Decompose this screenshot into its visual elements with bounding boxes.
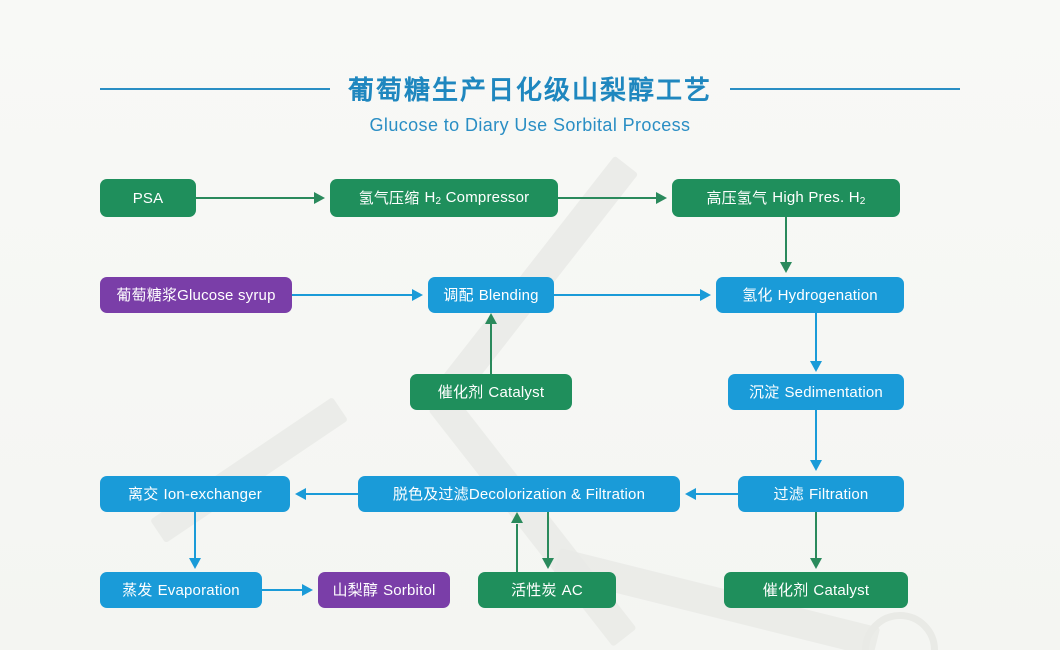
flow-highpres-to-hydrogenation-arrowhead xyxy=(780,262,792,273)
node-high-pres-h2-label-en: High Pres. H2 xyxy=(772,190,865,207)
title-row: 葡萄糖生产日化级山梨醇工艺 xyxy=(0,70,1060,107)
node-glucose-syrup-label-cn: 葡萄糖浆 xyxy=(116,288,177,303)
flow-psa-to-compressor xyxy=(196,197,316,199)
node-catalyst-top[interactable]: 催化剂Catalyst xyxy=(410,374,572,410)
node-filtration-label-cn: 过滤 xyxy=(774,487,804,502)
node-blending[interactable]: 调配Blending xyxy=(428,277,554,313)
node-filtration-label-en: Filtration xyxy=(809,487,869,502)
flow-ion-exchanger-to-evaporation xyxy=(194,512,196,560)
node-hydrogenation-label-en: Hydrogenation xyxy=(778,288,878,303)
node-ion-exchanger-label-cn: 离交 xyxy=(128,487,158,502)
flow-ac-to-decolorization xyxy=(516,524,518,572)
node-high-pres-h2-label-cn: 高压氢气 xyxy=(706,191,767,206)
flow-ac-to-decolorization-arrowhead xyxy=(511,512,523,523)
flow-ion-exchanger-to-evaporation-arrowhead xyxy=(189,558,201,569)
watermark-stroke xyxy=(428,392,636,647)
flow-sedimentation-to-filtration xyxy=(815,410,817,462)
node-catalyst-bottom-label-en: Catalyst xyxy=(813,583,869,598)
node-ion-exchanger-label-en: Ion-exchanger xyxy=(163,487,262,502)
flow-hydrogenation-to-sedimentation-arrowhead xyxy=(810,361,822,372)
node-evaporation-label-en: Evaporation xyxy=(158,583,240,598)
node-hydrogenation[interactable]: 氢化Hydrogenation xyxy=(716,277,904,313)
node-hydrogenation-label-cn: 氢化 xyxy=(742,288,772,303)
node-sedimentation-label-cn: 沉淀 xyxy=(749,385,779,400)
watermark-stroke xyxy=(150,397,348,543)
node-blending-label-en: Blending xyxy=(479,288,539,303)
flow-syrup-to-blending xyxy=(292,294,414,296)
flow-compressor-to-highpres xyxy=(558,197,658,199)
flow-catalyst-to-blending xyxy=(490,324,492,374)
title-rule-left xyxy=(100,88,330,90)
node-decolorization[interactable]: 脱色及过滤Decolorization & Filtration xyxy=(358,476,680,512)
node-decolorization-label-cn: 脱色及过滤 xyxy=(393,487,469,502)
flow-filtration-to-decolorization xyxy=(696,493,738,495)
node-decolorization-label-en: Decolorization & Filtration xyxy=(469,487,645,502)
page-title-cn: 葡萄糖生产日化级山梨醇工艺 xyxy=(348,70,712,107)
flow-filtration-to-decolorization-arrowhead xyxy=(685,488,696,500)
node-catalyst-top-label-cn: 催化剂 xyxy=(438,385,484,400)
flow-catalyst-to-blending-arrowhead xyxy=(485,313,497,324)
node-high-pres-h2[interactable]: 高压氢气High Pres. H2 xyxy=(672,179,900,217)
flow-decolorization-to-ion-exchanger xyxy=(306,493,358,495)
node-sedimentation-label-en: Sedimentation xyxy=(784,385,883,400)
node-sedimentation[interactable]: 沉淀Sedimentation xyxy=(728,374,904,410)
flow-compressor-to-highpres-arrowhead xyxy=(656,192,667,204)
flow-decolorization-to-ac xyxy=(547,512,549,560)
node-glucose-syrup[interactable]: 葡萄糖浆Glucose syrup xyxy=(100,277,292,313)
node-h2-compressor-label-cn: 氢气压缩 xyxy=(359,191,420,206)
flow-blending-to-hydrogenation-arrowhead xyxy=(700,289,711,301)
node-sorbitol-label-en: Sorbitol xyxy=(383,583,435,598)
node-glucose-syrup-label-en: Glucose syrup xyxy=(177,288,275,303)
node-filtration[interactable]: 过滤Filtration xyxy=(738,476,904,512)
node-h2-compressor-label-en: H2 Compressor xyxy=(424,190,529,207)
node-activated-carbon[interactable]: 活性炭AC xyxy=(478,572,616,608)
flow-decolorization-to-ion-exchanger-arrowhead xyxy=(295,488,306,500)
flow-sedimentation-to-filtration-arrowhead xyxy=(810,460,822,471)
node-evaporation-label-cn: 蒸发 xyxy=(122,583,152,598)
node-sorbitol-label-cn: 山梨醇 xyxy=(332,583,378,598)
node-ion-exchanger[interactable]: 离交Ion-exchanger xyxy=(100,476,290,512)
node-sorbitol[interactable]: 山梨醇Sorbitol xyxy=(318,572,450,608)
title-rule-right xyxy=(730,88,960,90)
flow-syrup-to-blending-arrowhead xyxy=(412,289,423,301)
flow-hydrogenation-to-sedimentation xyxy=(815,313,817,363)
page-header: 葡萄糖生产日化级山梨醇工艺 Glucose to Diary Use Sorbi… xyxy=(0,70,1060,136)
node-catalyst-bottom[interactable]: 催化剂Catalyst xyxy=(724,572,908,608)
node-blending-label-cn: 调配 xyxy=(443,288,473,303)
node-psa[interactable]: PSA xyxy=(100,179,196,217)
flow-evaporation-to-sorbitol-arrowhead xyxy=(302,584,313,596)
flow-decolorization-to-ac-arrowhead xyxy=(542,558,554,569)
page-title-en: Glucose to Diary Use Sorbital Process xyxy=(0,115,1060,136)
node-catalyst-bottom-label-cn: 催化剂 xyxy=(763,583,809,598)
flow-evaporation-to-sorbitol xyxy=(262,589,304,591)
node-h2-compressor[interactable]: 氢气压缩H2 Compressor xyxy=(330,179,558,217)
flow-highpres-to-hydrogenation xyxy=(785,217,787,264)
flow-blending-to-hydrogenation xyxy=(554,294,702,296)
watermark-ring xyxy=(862,612,938,650)
node-psa-label: PSA xyxy=(133,191,164,206)
flowchart-canvas: 葡萄糖生产日化级山梨醇工艺 Glucose to Diary Use Sorbi… xyxy=(0,0,1060,650)
node-activated-carbon-label-en: AC xyxy=(562,583,583,598)
node-evaporation[interactable]: 蒸发Evaporation xyxy=(100,572,262,608)
flow-psa-to-compressor-arrowhead xyxy=(314,192,325,204)
node-activated-carbon-label-cn: 活性炭 xyxy=(511,583,557,598)
node-catalyst-top-label-en: Catalyst xyxy=(488,385,544,400)
flow-filtration-to-catalyst-arrowhead xyxy=(810,558,822,569)
flow-filtration-to-catalyst xyxy=(815,512,817,560)
